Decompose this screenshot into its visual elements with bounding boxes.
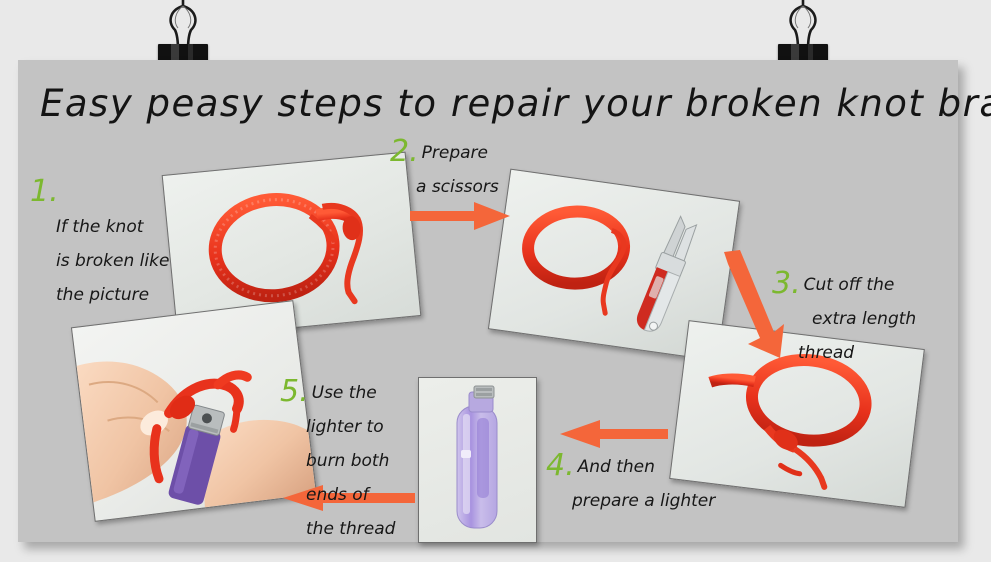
arrow-step1-to-step2	[410, 202, 510, 230]
arrow-left-icon	[560, 420, 668, 448]
step-1-line-3: the picture	[30, 278, 169, 312]
step-3-text: 3.Cut off the extra length thread	[772, 268, 916, 370]
step-3-line-3: thread	[772, 336, 916, 370]
arrow-step3-to-step4	[560, 420, 668, 448]
page-title: Easy peasy steps to repair your broken k…	[40, 82, 940, 125]
step-2-text: 2.Prepare a scissors	[390, 136, 499, 204]
lighter-illustration	[419, 378, 536, 542]
step-3-line-2: extra length	[772, 302, 916, 336]
step-5-line-2: lighter to	[280, 410, 395, 444]
photo-step4-content	[419, 378, 536, 542]
step-1-text: 1. If the knot is broken like the pictur…	[30, 176, 169, 312]
step-5-number: 5.	[280, 374, 309, 409]
step-2-line-2: a scissors	[390, 170, 499, 204]
step-3-number: 3.	[772, 266, 801, 301]
arrow-right-icon	[410, 202, 510, 230]
step-1-number: 1.	[30, 174, 59, 209]
step-1-line-1: If the knot	[30, 210, 169, 244]
step-2-number: 2.	[390, 134, 419, 169]
infographic-canvas: Easy peasy steps to repair your broken k…	[0, 0, 991, 562]
poster-sheet: Easy peasy steps to repair your broken k…	[18, 60, 958, 542]
step-5-line-3: burn both	[280, 444, 395, 478]
photo-step4-lighter	[418, 377, 537, 543]
step-5-line-4: ends of	[280, 478, 395, 512]
step-4-number: 4.	[546, 448, 575, 483]
step-5-line-5: the thread	[280, 512, 395, 546]
step-1-line-2: is broken like	[30, 244, 169, 278]
step-2-line-1: Prepare	[422, 143, 488, 163]
step-3-line-1: Cut off the	[804, 275, 895, 295]
step-5-line-1: Use the	[312, 383, 377, 403]
step-4-text: 4.And then prepare a lighter	[546, 450, 715, 518]
step-4-line-2: prepare a lighter	[546, 484, 715, 518]
step-4-line-1: And then	[578, 457, 655, 477]
step-5-text: 5.Use the lighter to burn both ends of t…	[280, 376, 395, 546]
